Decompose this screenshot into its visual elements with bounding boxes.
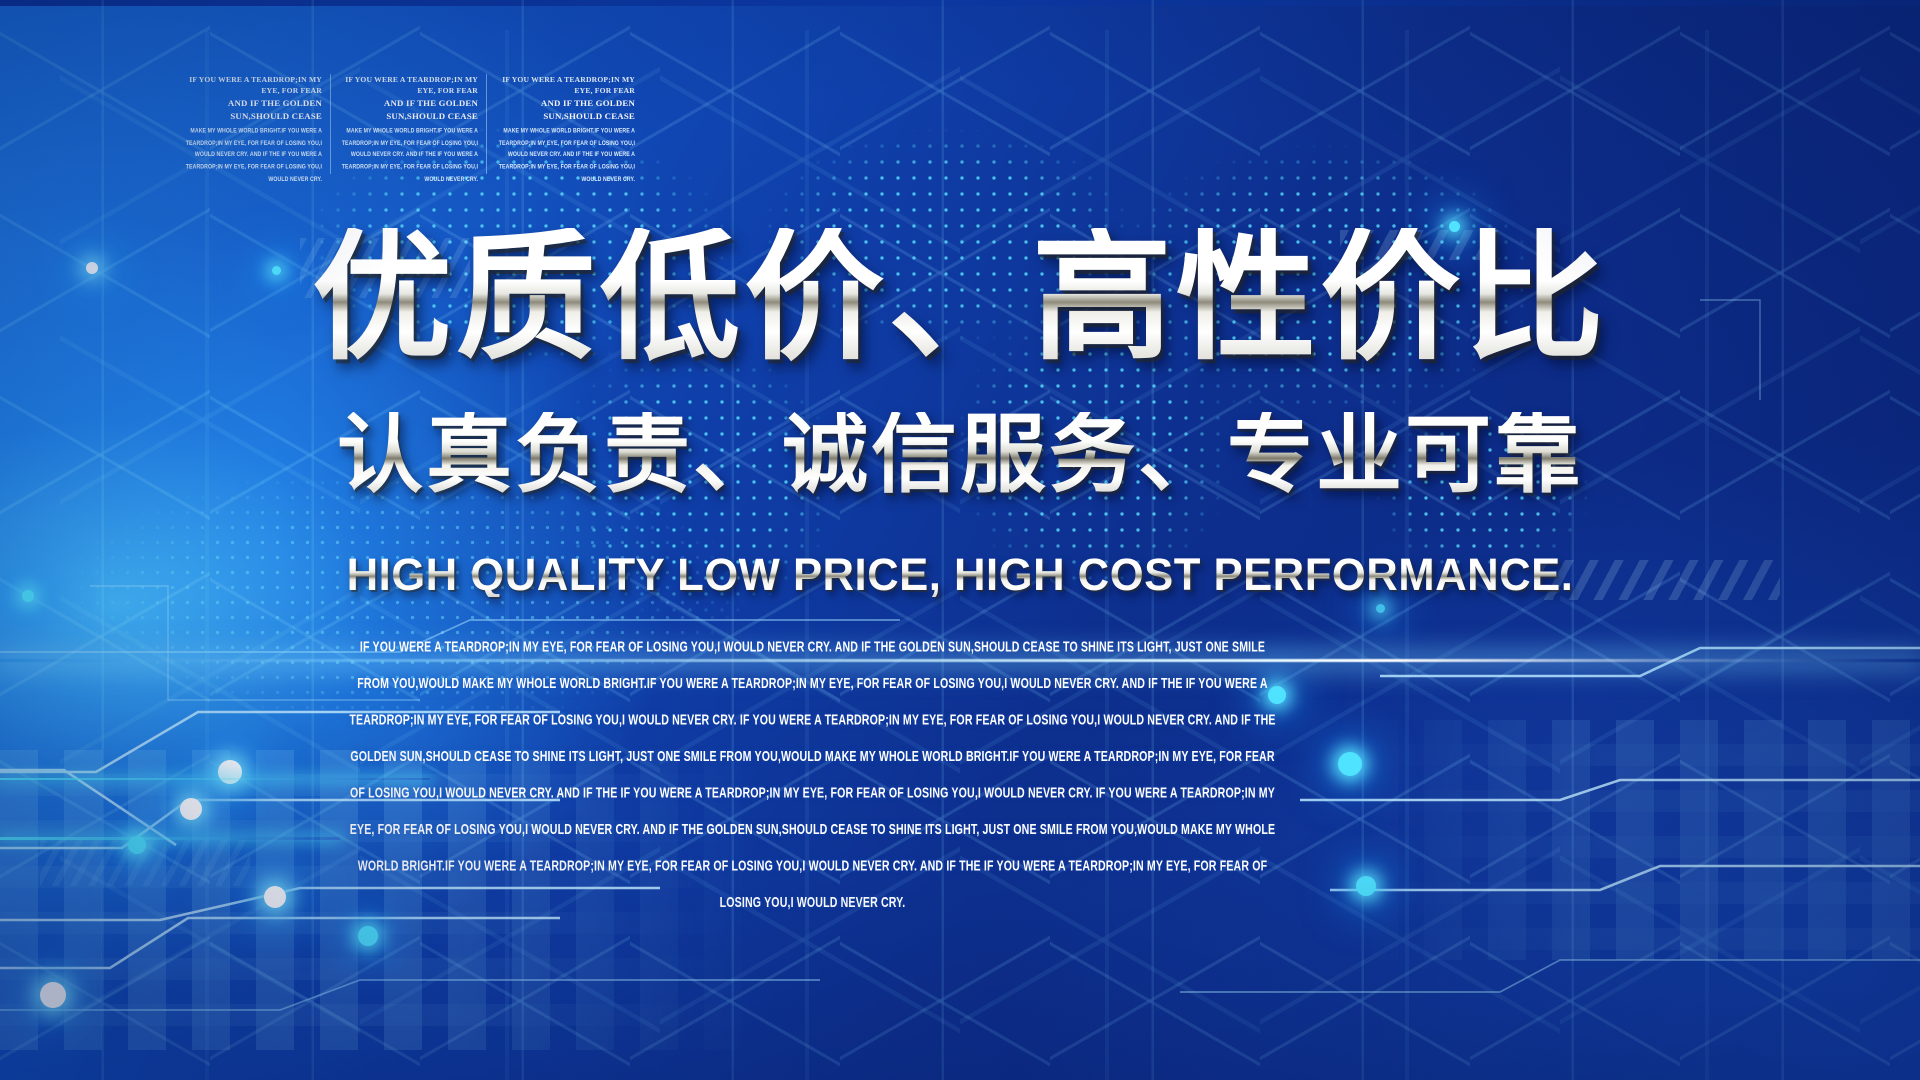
poster-canvas: IF YOU WERE A TEARDROP;IN MY EYE, FOR FE… [0, 0, 1920, 1080]
top-english-block: IF YOU WERE A TEARDROP;IN MY EYE, FOR FE… [339, 74, 487, 174]
top-english-block: IF YOU WERE A TEARDROP;IN MY EYE, FOR FE… [183, 74, 331, 174]
top-block-line-2: AND IF THE GOLDEN SUN,SHOULD CEASE [183, 97, 322, 123]
top-english-blocks: IF YOU WERE A TEARDROP;IN MY EYE, FOR FE… [183, 74, 651, 174]
sub-title: 认真负责、诚信服务、专业可靠 [0, 412, 1920, 498]
english-title: HIGH QUALITY LOW PRICE, HIGH COST PERFOR… [29, 552, 1891, 597]
top-block-line-3: MAKE MY WHOLE WORLD BRIGHT.IF YOU WERE A… [339, 126, 478, 186]
top-block-line-3: MAKE MY WHOLE WORLD BRIGHT.IF YOU WERE A… [495, 126, 635, 186]
top-block-line-3: MAKE MY WHOLE WORLD BRIGHT.IF YOU WERE A… [183, 126, 322, 186]
top-block-line-1: IF YOU WERE A TEARDROP;IN MY EYE, FOR FE… [339, 74, 478, 97]
top-block-line-1: IF YOU WERE A TEARDROP;IN MY EYE, FOR FE… [495, 74, 635, 97]
main-title: 优质低价、高性价比 [0, 228, 1920, 368]
diagonal-stripe-decoration-bottomleft [40, 840, 250, 886]
light-streak-left-lower [0, 837, 340, 840]
top-block-line-1: IF YOU WERE A TEARDROP;IN MY EYE, FOR FE… [183, 74, 322, 97]
top-block-line-2: AND IF THE GOLDEN SUN,SHOULD CEASE [495, 97, 635, 123]
top-block-line-2: AND IF THE GOLDEN SUN,SHOULD CEASE [339, 97, 478, 123]
body-paragraph: IF YOU WERE A TEARDROP;IN MY EYE, FOR FE… [345, 630, 1280, 922]
top-english-block: IF YOU WERE A TEARDROP;IN MY EYE, FOR FE… [495, 74, 643, 174]
